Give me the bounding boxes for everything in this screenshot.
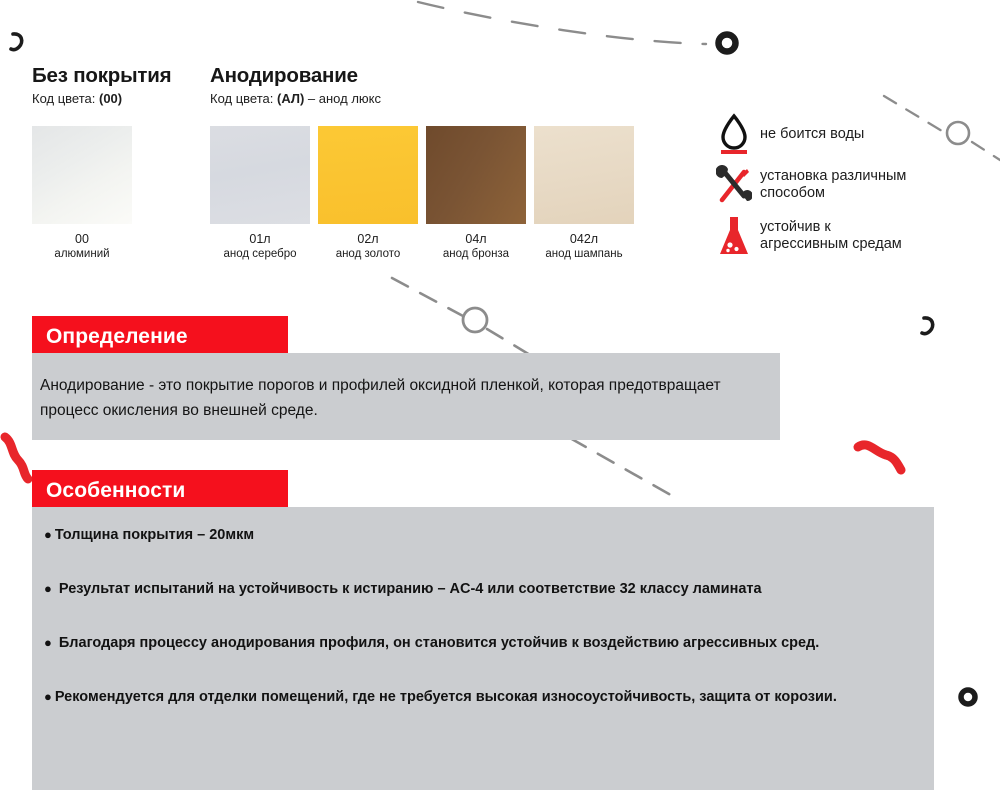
hook-top-left [11,34,22,50]
definition-text: Анодирование - это покрытие порогов и пр… [40,373,760,423]
swatch-name: анод золото [318,247,418,262]
infographic-page: Без покрытия Код цвета: (00) 00 алюминий… [0,0,1000,800]
specs-tab: Особенности [32,470,288,508]
group-subtitle-code: (АЛ) [277,91,304,106]
group-subtitle-prefix: Код цвета: [32,91,99,106]
list-item: ● Результат испытаний на устойчивость к … [44,575,928,603]
water-drop-icon [712,112,756,156]
feature-water: не боится воды [712,112,982,156]
ring-gray-middle [463,308,487,332]
swatch-code: 00 [32,231,132,247]
list-item-text: Толщина покрытия – 20мкм [55,527,254,543]
swatch-code: 02л [318,231,418,247]
swatch-name: анод серебро [210,247,310,262]
swatch-chip-00[interactable] [32,126,132,224]
definition-tab: Определение [32,316,288,354]
feature-label: не боится воды [756,126,864,143]
dashed-line-middle [392,278,463,316]
group-title: Без покрытия [32,64,210,88]
swatch-chip-04l[interactable] [426,126,526,224]
feature-label: установка различным способом [756,168,906,202]
dashed-line-top [418,2,706,44]
swatch-code: 01л [210,231,310,247]
swatch-name: анод шампань [534,247,634,262]
list-item-text: Благодаря процессу анодирования профиля,… [55,635,819,651]
bullet-icon: ● [44,581,55,596]
swatch-cell[interactable]: 01л анод серебро [210,126,310,262]
swatch-cell[interactable]: 00 алюминий [32,126,132,262]
swatch-cell[interactable]: 02л анод золото [318,126,418,262]
group-title: Анодирование [210,64,634,88]
swatch-groups: Без покрытия Код цвета: (00) 00 алюминий… [32,64,634,262]
bullet-icon: ● [44,635,55,650]
group-subtitle: Код цвета: (00) [32,91,210,107]
hook-right [922,318,933,334]
list-item: ●Толщина покрытия – 20мкм [44,521,928,549]
squiggle-red-left [5,437,28,479]
swatch-row: 01л анод серебро 02л анод золото 04л ано… [210,126,634,262]
swatch-code: 04л [426,231,526,247]
list-item-text: Результат испытаний на устойчивость к ис… [55,581,762,597]
specs-list: ●Толщина покрытия – 20мкм ● Результат ис… [44,521,928,711]
feature-install: установка различным способом [712,165,982,205]
ring-dark-bottom [961,690,975,704]
ring-dark-top [719,35,736,52]
swatch-cell[interactable]: 042л анод шампань [534,126,634,262]
feature-label: устойчив к агрессивным средам [756,219,902,253]
group-subtitle-code: (00) [99,91,122,106]
bullet-icon: ● [44,689,55,704]
wrench-screwdriver-icon [712,165,756,205]
bullet-icon: ● [44,527,55,542]
icon-feature-list: не боится воды установка различным спосо… [712,112,982,267]
swatch-name: алюминий [32,247,132,262]
swatch-row: 00 алюминий [32,126,210,262]
swatch-chip-02l[interactable] [318,126,418,224]
swatch-cell[interactable]: 04л анод бронза [426,126,526,262]
list-item: ●Рекомендуется для отделки помещений, гд… [44,683,928,711]
swatch-code: 042л [534,231,634,247]
list-item: ● Благодаря процессу анодирования профил… [44,629,928,657]
group-anodizing: Анодирование Код цвета: (АЛ) – анод люкс… [210,64,634,262]
squiggle-red-right [858,445,901,470]
group-subtitle-prefix: Код цвета: [210,91,277,106]
group-subtitle: Код цвета: (АЛ) – анод люкс [210,91,634,107]
dashed-line-lower [570,438,676,498]
swatch-chip-01l[interactable] [210,126,310,224]
swatch-chip-042l[interactable] [534,126,634,224]
flask-icon [712,214,756,258]
group-no-coating: Без покрытия Код цвета: (00) 00 алюминий [32,64,210,262]
group-subtitle-suffix: – анод люкс [304,91,381,106]
feature-resistance: устойчив к агрессивным средам [712,214,982,258]
list-item-text: Рекомендуется для отделки помещений, где… [55,689,837,705]
swatch-name: анод бронза [426,247,526,262]
